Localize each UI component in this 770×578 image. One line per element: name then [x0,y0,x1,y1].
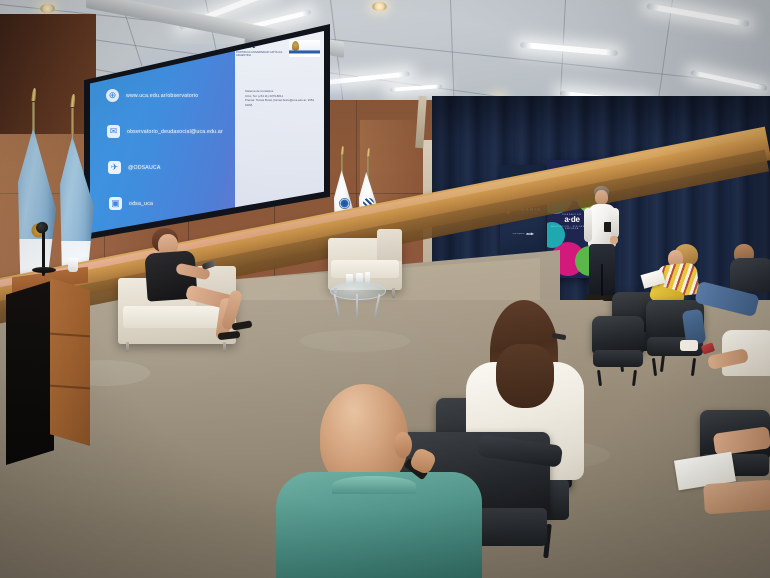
foreground-ear [394,432,412,458]
conference-room-photo: ⊕ www.uca.edu.ar/observatorio ✉ observat… [0,0,770,578]
partner-emblem-icon [289,40,320,57]
ceiling-light-strip [646,3,749,27]
slide-contact-block: Sistema de Contactos UCA, Tel. (+54 11) … [245,89,317,107]
slide-row-website: ⊕ www.uca.edu.ar/observatorio [106,89,198,102]
speaker-leg-gap [601,264,603,296]
microphone-base [32,267,56,273]
audience-chair[interactable] [592,316,644,382]
recessed-downlight [372,2,387,11]
slide-website-text: www.uca.edu.ar/observatorio [126,93,198,99]
twitter-icon: ✈ [108,161,121,174]
instagram-icon: ▣ [109,197,122,210]
flag-emblem-icon [339,198,350,209]
slide-contact-line-3: Prensa: Tomas Bosio (tomas.bosio@uca.edu… [245,98,317,107]
audience-4-leg [703,480,770,515]
audience-center-hair-front [496,344,554,408]
banner-left-by-prefix: una empresa [513,233,525,235]
slide-row-email: ✉ observatorio_deudasocial@uca.edu.ar [107,125,223,138]
paper-cup [68,258,78,272]
person-audience-right-4 [680,430,770,550]
speaker-arm-right [611,208,619,238]
flag-argentina-left [18,128,56,278]
audience-2-top [730,258,770,292]
slide-instagram-text: odsa_uca [129,201,153,207]
speaker-hand [610,236,618,244]
podium-front-panel [6,280,54,465]
ceiling-light-strip [390,84,442,92]
person-seated-panelist [134,228,254,346]
speaker-head [595,190,608,205]
uca-subtitle: PONTIFICIA UNIVERSIDAD CATÓLICA ARGENTIN… [236,51,286,57]
globe-icon: ⊕ [106,89,119,102]
handheld-microphone-icon [201,260,216,270]
slide-row-twitter: ✈ @ODSAUCA [108,161,161,174]
slide-email-text: observatorio_deudasocial@uca.edu.ar [127,129,223,135]
foreground-collar [332,476,416,494]
ceiling-light-strip [690,70,767,91]
flag-argentina-left-2 [60,136,94,278]
flag-group-left [10,88,100,288]
person-audience-foreground [276,384,496,578]
audience-3-phone[interactable] [701,342,715,354]
audience-2-sock [680,340,698,351]
ceiling-light-strip [520,42,618,57]
podium-side-panel [50,278,90,446]
wooden-podium [6,272,88,472]
slide-twitter-text: @ODSAUCA [128,165,161,171]
slide-row-instagram: ▣ odsa_uca [109,197,153,210]
person-standing-speaker [578,186,626,302]
recessed-downlight [40,4,55,13]
envelope-icon: ✉ [107,125,120,138]
banner-left-by-logo: a·de [526,231,533,236]
audience-4-arm [713,426,770,456]
panelist-shoe [218,331,241,340]
glass-coffee-table [330,282,384,320]
speaker-arm-left [584,208,592,242]
